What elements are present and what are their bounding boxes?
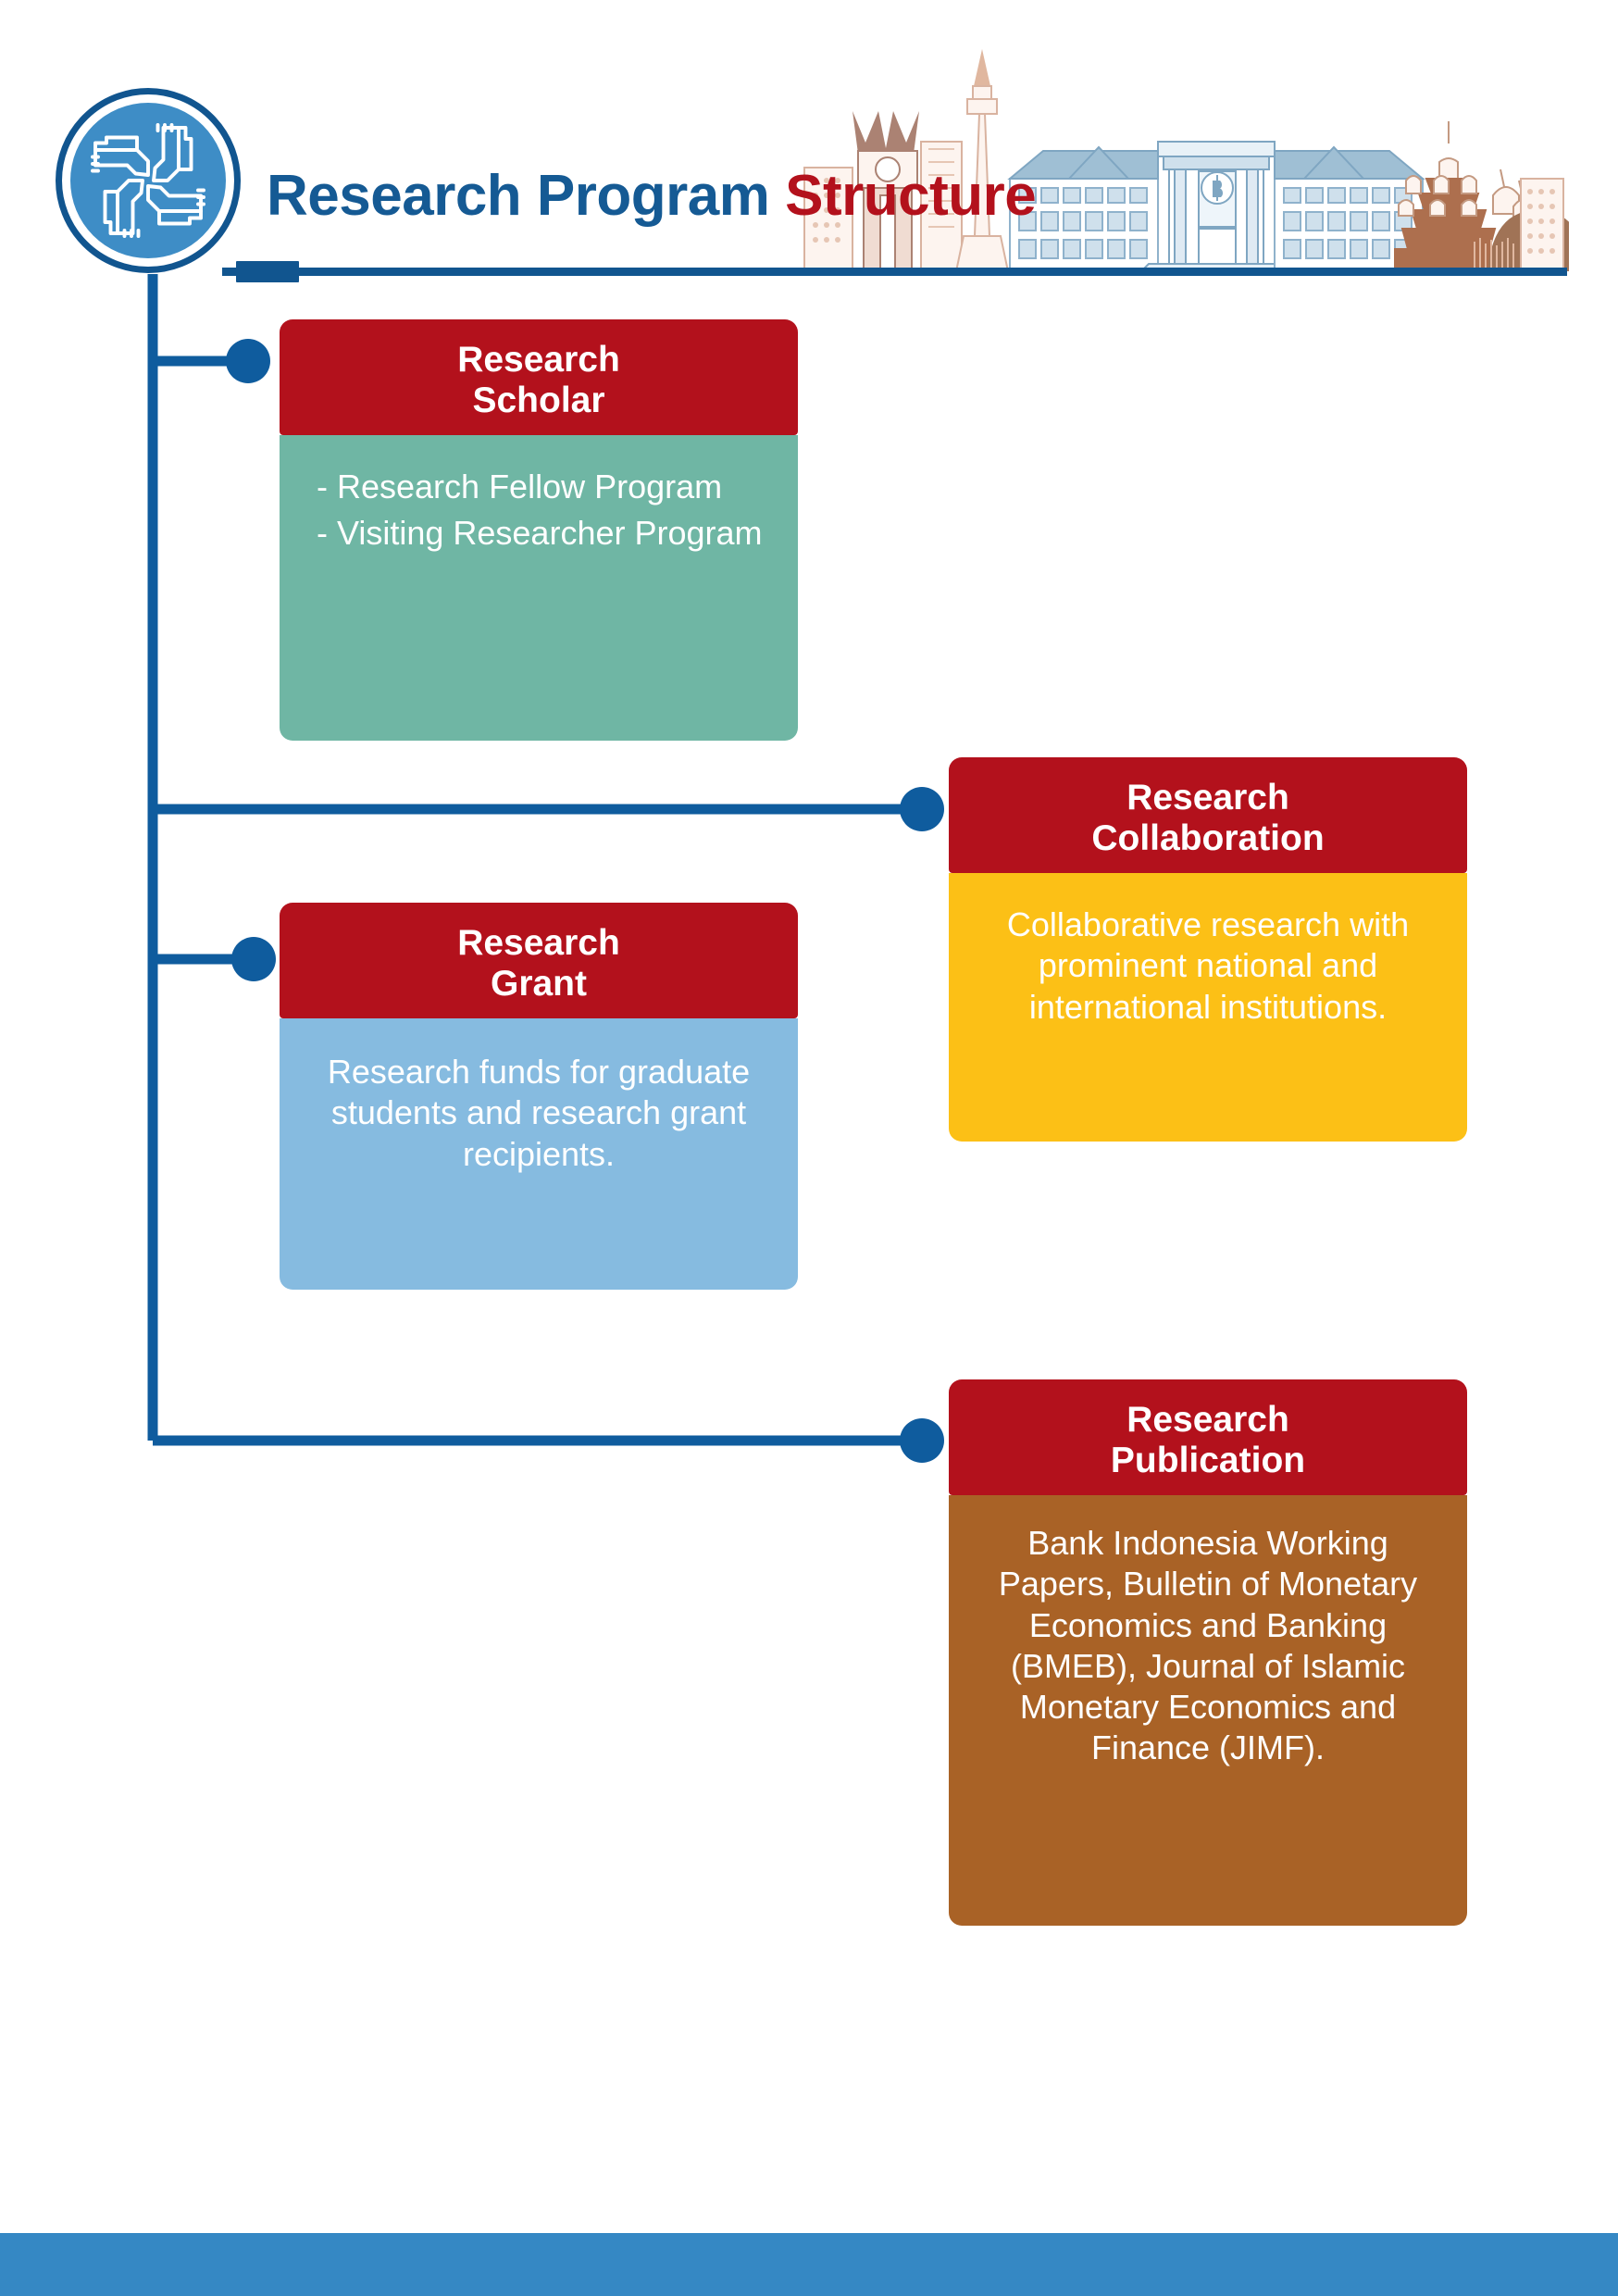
card-title-line2: Publication (965, 1441, 1450, 1481)
card-research-publication[interactable]: Research Publication Bank Indonesia Work… (949, 1379, 1467, 1926)
card-body-research-scholar: - Research Fellow Program - Visiting Res… (280, 435, 798, 741)
card-title-line1: Research (965, 1400, 1450, 1441)
card-research-scholar[interactable]: Research Scholar - Research Fellow Progr… (280, 319, 798, 741)
card-body-research-publication: Bank Indonesia Working Papers, Bulletin … (949, 1495, 1467, 1926)
footer-bar (0, 2233, 1618, 2296)
list-item: - Visiting Researcher Program (292, 513, 776, 554)
page-title-primary: Research Program (267, 164, 785, 228)
connector-node-dot (900, 787, 944, 831)
card-header-research-scholar: Research Scholar (280, 319, 798, 435)
connector-node-dot (226, 339, 270, 383)
header-divider (222, 268, 1567, 276)
card-title-line2: Grant (296, 964, 781, 1004)
card-title-line2: Collaboration (965, 818, 1450, 859)
list-item: - Research Fellow Program (292, 467, 776, 507)
card-header-research-publication: Research Publication (949, 1379, 1467, 1495)
card-title-line2: Scholar (296, 381, 781, 421)
card-title-line1: Research (965, 778, 1450, 818)
card-header-research-collaboration: Research Collaboration (949, 757, 1467, 873)
header-divider-marker (236, 261, 299, 282)
card-title-line1: Research (296, 340, 781, 381)
connector-tree (0, 0, 1618, 2296)
card-body-research-grant: Research funds for graduate students and… (280, 1018, 798, 1290)
four-hands-partnership-icon (70, 103, 226, 258)
page-title: Research Program Structure (267, 168, 1036, 225)
research-program-logo (56, 88, 241, 273)
page-title-accent: Structure (785, 164, 1036, 228)
card-title-line1: Research (296, 923, 781, 964)
card-research-collaboration[interactable]: Research Collaboration Collaborative res… (949, 757, 1467, 1142)
card-header-research-grant: Research Grant (280, 903, 798, 1018)
card-research-grant[interactable]: Research Grant Research funds for gradua… (280, 903, 798, 1290)
card-body-research-collaboration: Collaborative research with prominent na… (949, 873, 1467, 1142)
connector-node-dot (900, 1418, 944, 1463)
infographic-page: Research Program Structure Research (0, 0, 1618, 2296)
connector-node-dot (231, 937, 276, 981)
